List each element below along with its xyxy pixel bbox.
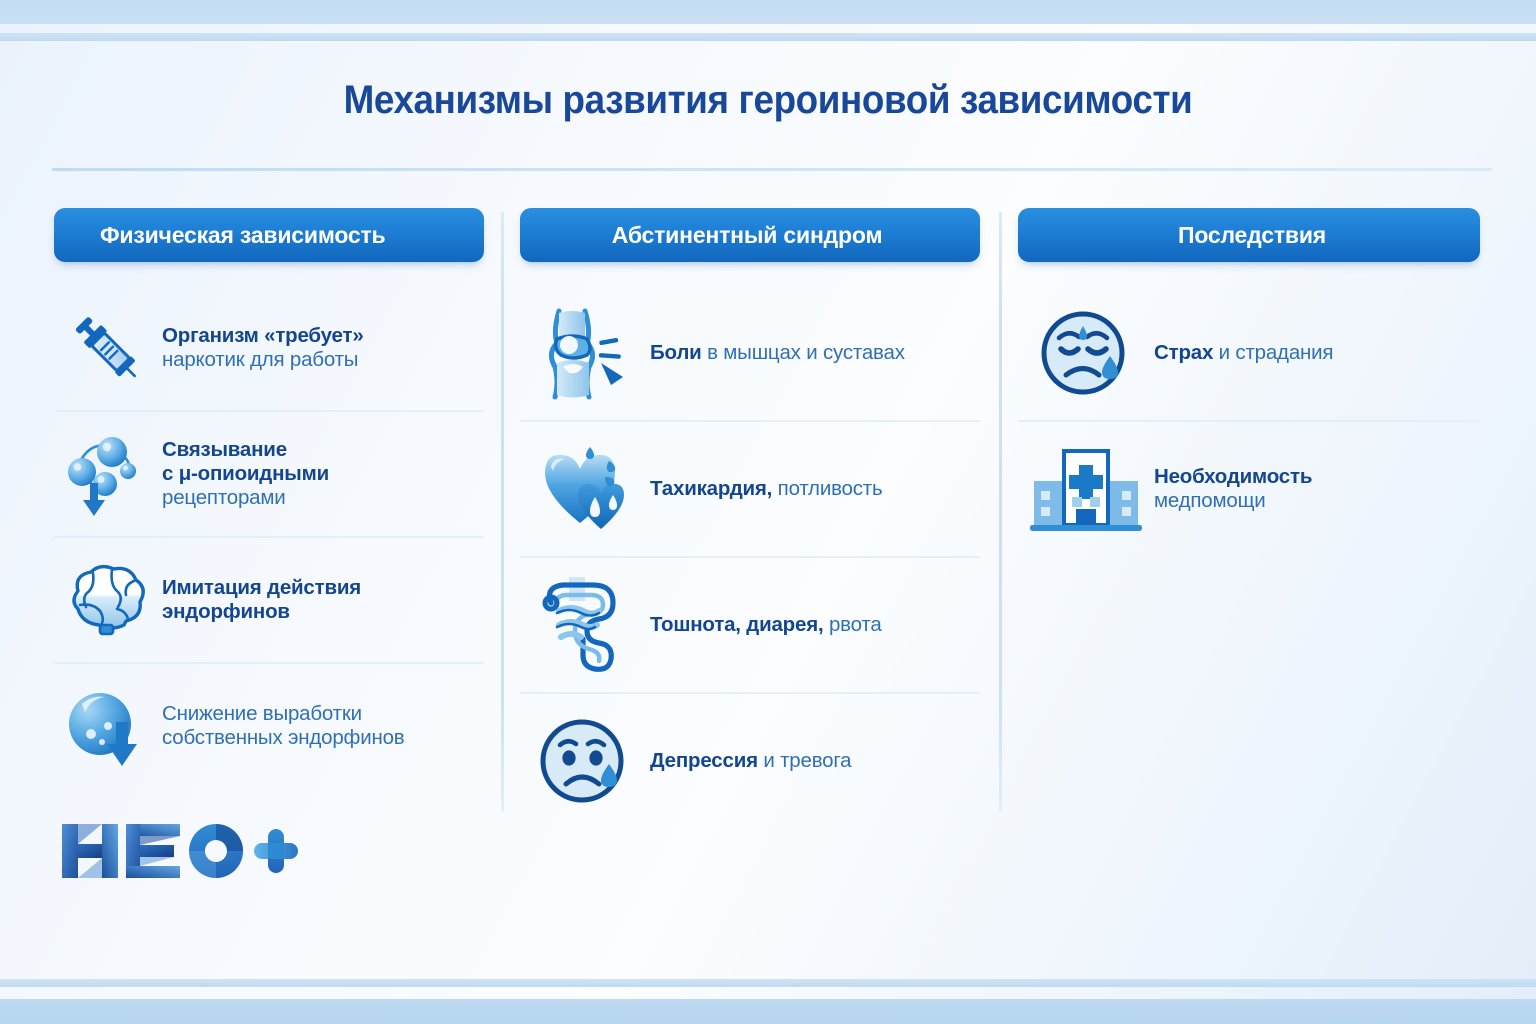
item-line: Необходимость xyxy=(1154,465,1312,488)
item-line-tail: и страдания xyxy=(1213,341,1333,364)
decrease-sphere-icon xyxy=(54,682,158,770)
item-line-tail: и тревога xyxy=(758,749,852,772)
column-physical: Физическая зависимость xyxy=(54,208,484,788)
column-header-label: Последствия xyxy=(1018,222,1480,249)
item-line: рецепторами xyxy=(162,486,286,509)
item-line: Тошнота, диарея, xyxy=(650,613,823,636)
list-item[interactable]: Боли в мышцах и суставах xyxy=(520,286,980,420)
item-line: Тахикардия, xyxy=(650,477,772,500)
list-item-text: Организм «требует» наркотик для работы xyxy=(158,324,364,372)
column-consequences: Последствия xyxy=(1018,208,1480,556)
list-item-text: Снижение выработки собственных эндорфино… xyxy=(158,702,405,750)
item-line: медпомощи xyxy=(1154,489,1266,512)
list-item[interactable]: Снижение выработки собственных эндорфино… xyxy=(54,662,484,788)
list-item-text: Имитация действия эндорфинов xyxy=(158,576,361,624)
list-item[interactable]: Связывание с μ-опиоидными рецепторами xyxy=(54,410,484,536)
anxious-face-tear-icon xyxy=(1018,304,1154,402)
intestines-icon xyxy=(520,573,650,677)
item-line: Организм «требует» xyxy=(162,324,364,347)
column-header-label: Физическая зависимость xyxy=(54,222,484,249)
list-item[interactable]: Необходимость медпомощи xyxy=(1018,420,1480,556)
item-line-tail: рвота xyxy=(823,613,881,636)
title-divider xyxy=(52,168,1492,171)
list-item-text: Тошнота, диарея, рвота xyxy=(650,613,882,637)
column-header-withdrawal[interactable]: Абстинентный синдром xyxy=(520,208,980,262)
syringe-icon xyxy=(54,305,158,391)
column-header-label: Абстинентный синдром xyxy=(520,222,980,249)
column-header-physical[interactable]: Физическая зависимость xyxy=(54,208,484,262)
item-line: Связывание xyxy=(162,438,287,461)
list-item-text: Необходимость медпомощи xyxy=(1154,465,1312,513)
item-line: Страх xyxy=(1154,341,1213,364)
list-item-text: Страх и страдания xyxy=(1154,341,1333,365)
list-item-text: Депрессия и тревога xyxy=(650,749,851,773)
top-accent-stripe xyxy=(0,33,1536,41)
molecule-binding-icon xyxy=(54,428,158,520)
column-separator-2 xyxy=(999,212,1002,812)
list-item[interactable]: Имитация действия эндорфинов xyxy=(54,536,484,662)
list-item-text: Связывание с μ-опиоидными рецепторами xyxy=(158,438,329,509)
item-list-consequences: Страх и страдания xyxy=(1018,286,1480,556)
list-item[interactable]: Страх и страдания xyxy=(1018,286,1480,420)
item-line: Депрессия xyxy=(650,749,758,772)
infographic-canvas: Механизмы развития героиновой зависимост… xyxy=(0,0,1536,1024)
column-separator-1 xyxy=(501,212,504,812)
list-item[interactable]: Тахикардия, потливость xyxy=(520,420,980,556)
knee-joint-pain-icon xyxy=(520,305,650,401)
list-item[interactable]: Организм «требует» наркотик для работы xyxy=(54,286,484,410)
item-line: эндорфинов xyxy=(162,600,290,623)
column-withdrawal: Абстинентный синдром xyxy=(520,208,980,828)
list-item[interactable]: Депрессия и тревога xyxy=(520,692,980,828)
hospital-icon xyxy=(1018,439,1154,539)
item-line: с μ-опиоидными xyxy=(162,462,329,485)
brain-icon xyxy=(54,561,158,639)
item-line: Боли xyxy=(650,341,702,364)
page-title: Механизмы развития героиновой зависимост… xyxy=(61,78,1474,123)
item-line-tail: потливость xyxy=(772,477,882,500)
heart-sweat-icon xyxy=(520,443,650,535)
sad-face-tear-icon xyxy=(520,712,650,810)
column-header-consequences[interactable]: Последствия xyxy=(1018,208,1480,262)
item-line: Снижение выработки xyxy=(162,702,362,725)
list-item-text: Боли в мышцах и суставах xyxy=(650,341,905,365)
bottom-accent-stripe xyxy=(0,979,1536,987)
item-list-physical: Организм «требует» наркотик для работы xyxy=(54,286,484,788)
item-line: наркотик для работы xyxy=(162,348,358,371)
bottom-decorative-band xyxy=(0,999,1536,1024)
list-item-text: Тахикардия, потливость xyxy=(650,477,882,501)
list-item[interactable]: Тошнота, диарея, рвота xyxy=(520,556,980,692)
item-list-withdrawal: Боли в мышцах и суставах xyxy=(520,286,980,828)
columns-area: Физическая зависимость xyxy=(0,208,1536,828)
top-decorative-band xyxy=(0,0,1536,24)
item-line-tail: в мышцах и суставах xyxy=(702,341,905,364)
item-line: собственных эндорфинов xyxy=(162,726,405,749)
item-line: Имитация действия xyxy=(162,576,361,599)
brand-logo: НЕО+ xyxy=(58,818,298,884)
